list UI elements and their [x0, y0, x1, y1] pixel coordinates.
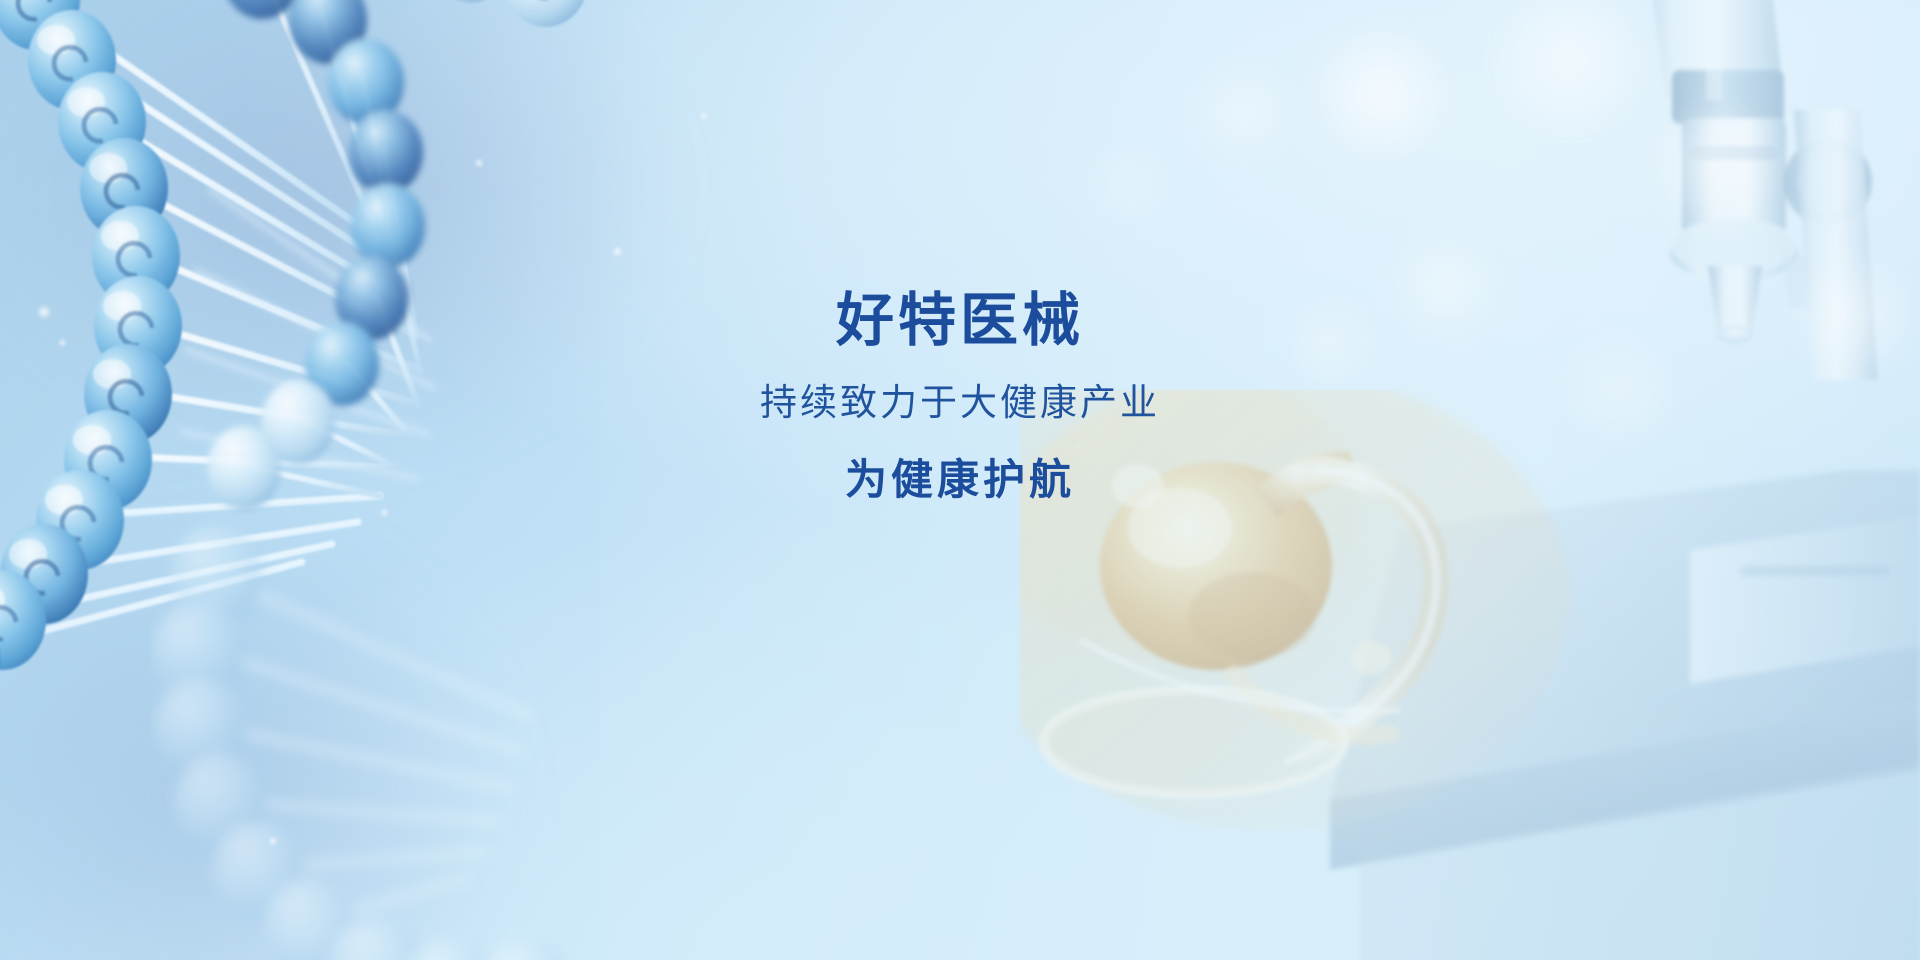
hero-tagline: 为健康护航: [845, 455, 1075, 505]
hero-banner: 好特医械 持续致力于大健康产业 为健康护航: [0, 0, 1920, 960]
hero-subtitle: 持续致力于大健康产业: [760, 381, 1160, 425]
lab-glassware-icon: [1020, 390, 1640, 950]
page-title: 好特医械: [836, 288, 1084, 355]
dna-helix-background-icon: [150, 380, 770, 960]
